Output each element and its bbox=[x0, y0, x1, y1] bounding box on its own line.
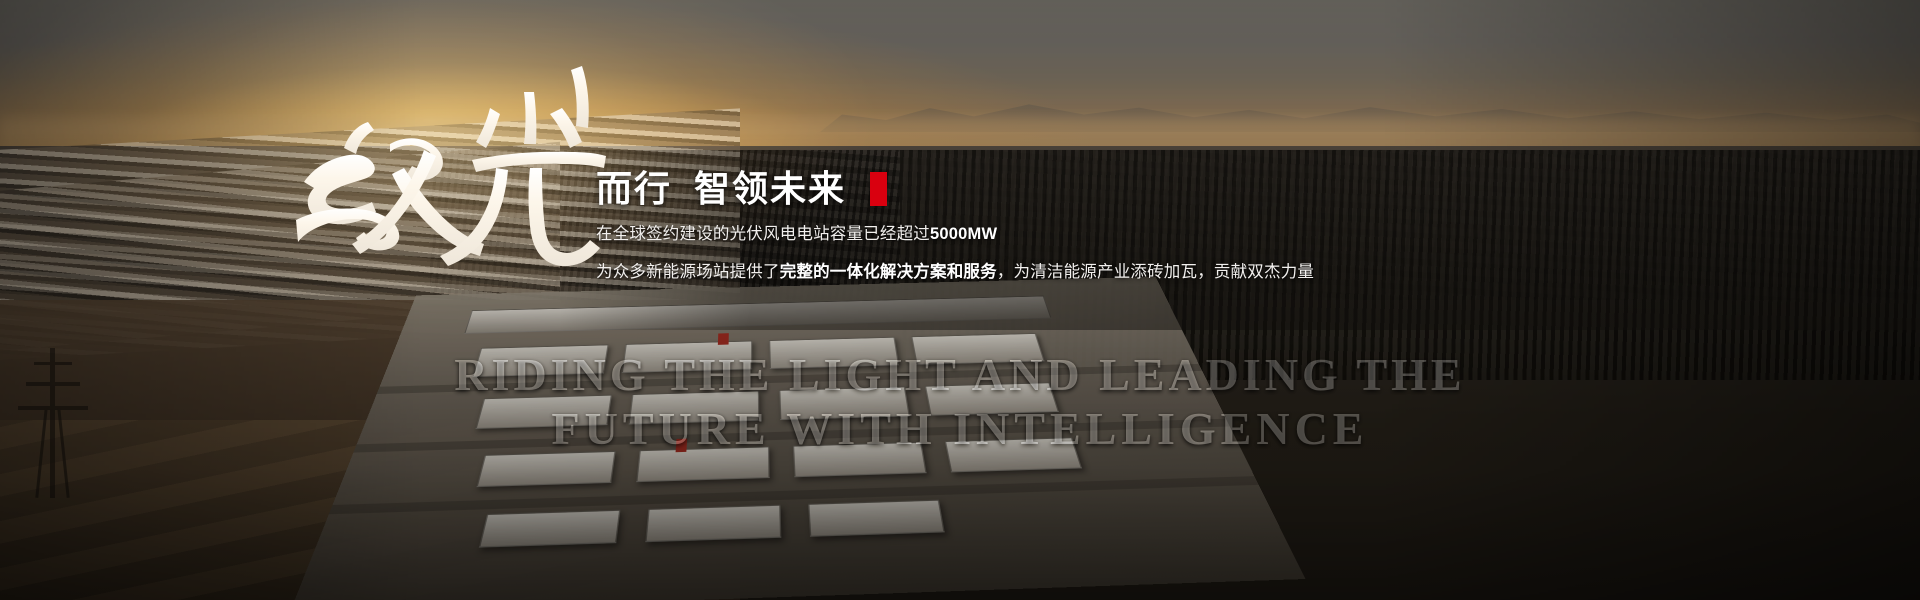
yard-container bbox=[793, 442, 927, 478]
headline: 而行 智领未来 bbox=[596, 168, 1876, 210]
headline-part-a: 而行 bbox=[596, 168, 672, 210]
copy-block: 而行 智领未来 在全球签约建设的光伏风电电站容量已经超过5000MW 为众多新能… bbox=[596, 168, 1876, 286]
transmission-tower-icon bbox=[14, 348, 92, 498]
substation-yard bbox=[289, 277, 1305, 600]
yard-container bbox=[472, 344, 608, 377]
yard-marker bbox=[676, 439, 688, 453]
subtitle-capacity-value: 5000MW bbox=[930, 225, 997, 243]
yard-container bbox=[629, 391, 760, 425]
background-photo bbox=[0, 0, 1920, 600]
yard-container bbox=[925, 382, 1059, 415]
subtitle-line-2: 为众多新能源场站提供了完整的一体化解决方案和服务，为清洁能源产业添砖加瓦，贡献双… bbox=[596, 259, 1876, 286]
yard-container bbox=[645, 505, 781, 543]
subtitle-line-2-suffix: ，为清洁能源产业添砖加瓦，贡献双杰力量 bbox=[997, 263, 1314, 281]
headline-part-b: 智领未来 bbox=[694, 168, 846, 210]
yard-container bbox=[911, 333, 1044, 365]
yard-container bbox=[779, 386, 910, 420]
yard-container bbox=[945, 437, 1082, 472]
yard-container bbox=[476, 451, 615, 487]
yard-container bbox=[622, 341, 752, 373]
subtitle-line-2-prefix: 为众多新能源场站提供了 bbox=[596, 263, 780, 281]
hero-banner: 而行 智领未来 在全球签约建设的光伏风电电站容量已经超过5000MW 为众多新能… bbox=[0, 0, 1920, 600]
subtitle-line-2-strong: 完整的一体化解决方案和服务 bbox=[780, 263, 997, 281]
subtitle-line-1-text: 在全球签约建设的光伏风电电站容量已经超过 bbox=[596, 225, 930, 243]
subtitle-line-1: 在全球签约建设的光伏风电电站容量已经超过5000MW bbox=[596, 221, 1876, 248]
yard-container bbox=[636, 446, 770, 482]
yard-container bbox=[475, 395, 611, 429]
yard-container bbox=[769, 337, 899, 369]
yard-marker bbox=[718, 333, 729, 345]
red-accent-block bbox=[870, 172, 887, 206]
yard-container bbox=[479, 510, 621, 548]
yard-container bbox=[808, 500, 945, 537]
